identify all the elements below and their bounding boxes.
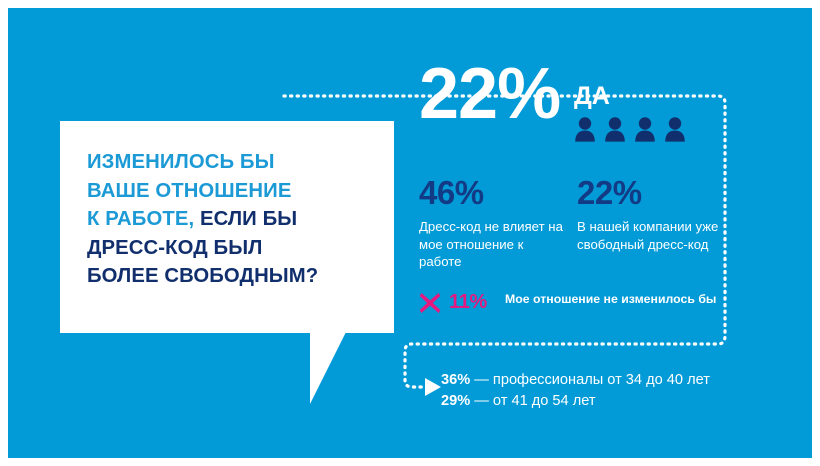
title-line-3-highlight: К РАБОТЕ, — [87, 208, 194, 230]
infographic-canvas: ИЗМЕНИЛОСЬ БЫ ВАШЕ ОТНОШЕНИЕ К РАБОТЕ, Е… — [0, 0, 820, 466]
footnote-list: 36% — профессионалы от 34 до 40 лет 29% … — [441, 370, 710, 412]
yes-percent: 22% — [419, 58, 560, 130]
no-change-description: Мое отношение не изменилось бы — [505, 291, 716, 307]
stat-description: Дресс-код не влияет на мое отношение к р… — [419, 218, 569, 271]
page-title: ИЗМЕНИЛОСЬ БЫ ВАШЕ ОТНОШЕНИЕ К РАБОТЕ, Е… — [87, 148, 383, 291]
title-line-3-rest: ЕСЛИ БЫ — [194, 208, 297, 230]
no-change-row: 11% Мое отношение не изменилось бы — [419, 291, 716, 314]
footnote-dash: — — [470, 393, 493, 409]
cyan-background: ИЗМЕНИЛОСЬ БЫ ВАШЕ ОТНОШЕНИЕ К РАБОТЕ, Е… — [8, 8, 812, 458]
stat-column: 22% В нашей компании уже свободный дресс… — [577, 176, 727, 253]
person-silhouette-icon — [604, 116, 626, 142]
no-change-percent: 11% — [449, 291, 487, 313]
footnote-dash: — — [470, 372, 493, 388]
title-line-1: ИЗМЕНИЛОСЬ БЫ — [87, 151, 275, 173]
footnote-text: от 41 до 54 лет — [493, 393, 596, 409]
title-line-5: БОЛЕЕ СВОБОДНЫМ? — [87, 265, 318, 287]
person-silhouette-icon — [634, 116, 656, 142]
title-line-2: ВАШЕ ОТНОШЕНИЕ — [87, 180, 291, 202]
speech-bubble: ИЗМЕНИЛОСЬ БЫ ВАШЕ ОТНОШЕНИЕ К РАБОТЕ, Е… — [60, 121, 394, 353]
stat-description: В нашей компании уже свободный дресс-код — [577, 218, 727, 253]
stat-percent: 46% — [419, 176, 569, 209]
footnote-item: 29% — от 41 до 54 лет — [441, 391, 710, 412]
cross-x-icon — [419, 292, 441, 314]
footnote-percent: 29% — [441, 393, 470, 409]
dotted-arrow-right-icon — [425, 378, 441, 396]
person-silhouette-icon — [664, 116, 686, 142]
yes-label: ДА — [574, 84, 610, 109]
title-line-4: ДРЕСС-КОД БЫЛ — [87, 237, 262, 259]
speech-bubble-tail — [310, 332, 346, 404]
person-silhouette-icon — [574, 116, 596, 142]
footnote-item: 36% — профессионалы от 34 до 40 лет — [441, 370, 710, 391]
stat-percent: 22% — [577, 176, 727, 209]
yes-people-icons — [574, 116, 686, 142]
footnote-percent: 36% — [441, 372, 470, 388]
stat-column: 46% Дресс-код не влияет на мое отношение… — [419, 176, 569, 271]
footnote-text: профессионалы от 34 до 40 лет — [493, 372, 710, 388]
